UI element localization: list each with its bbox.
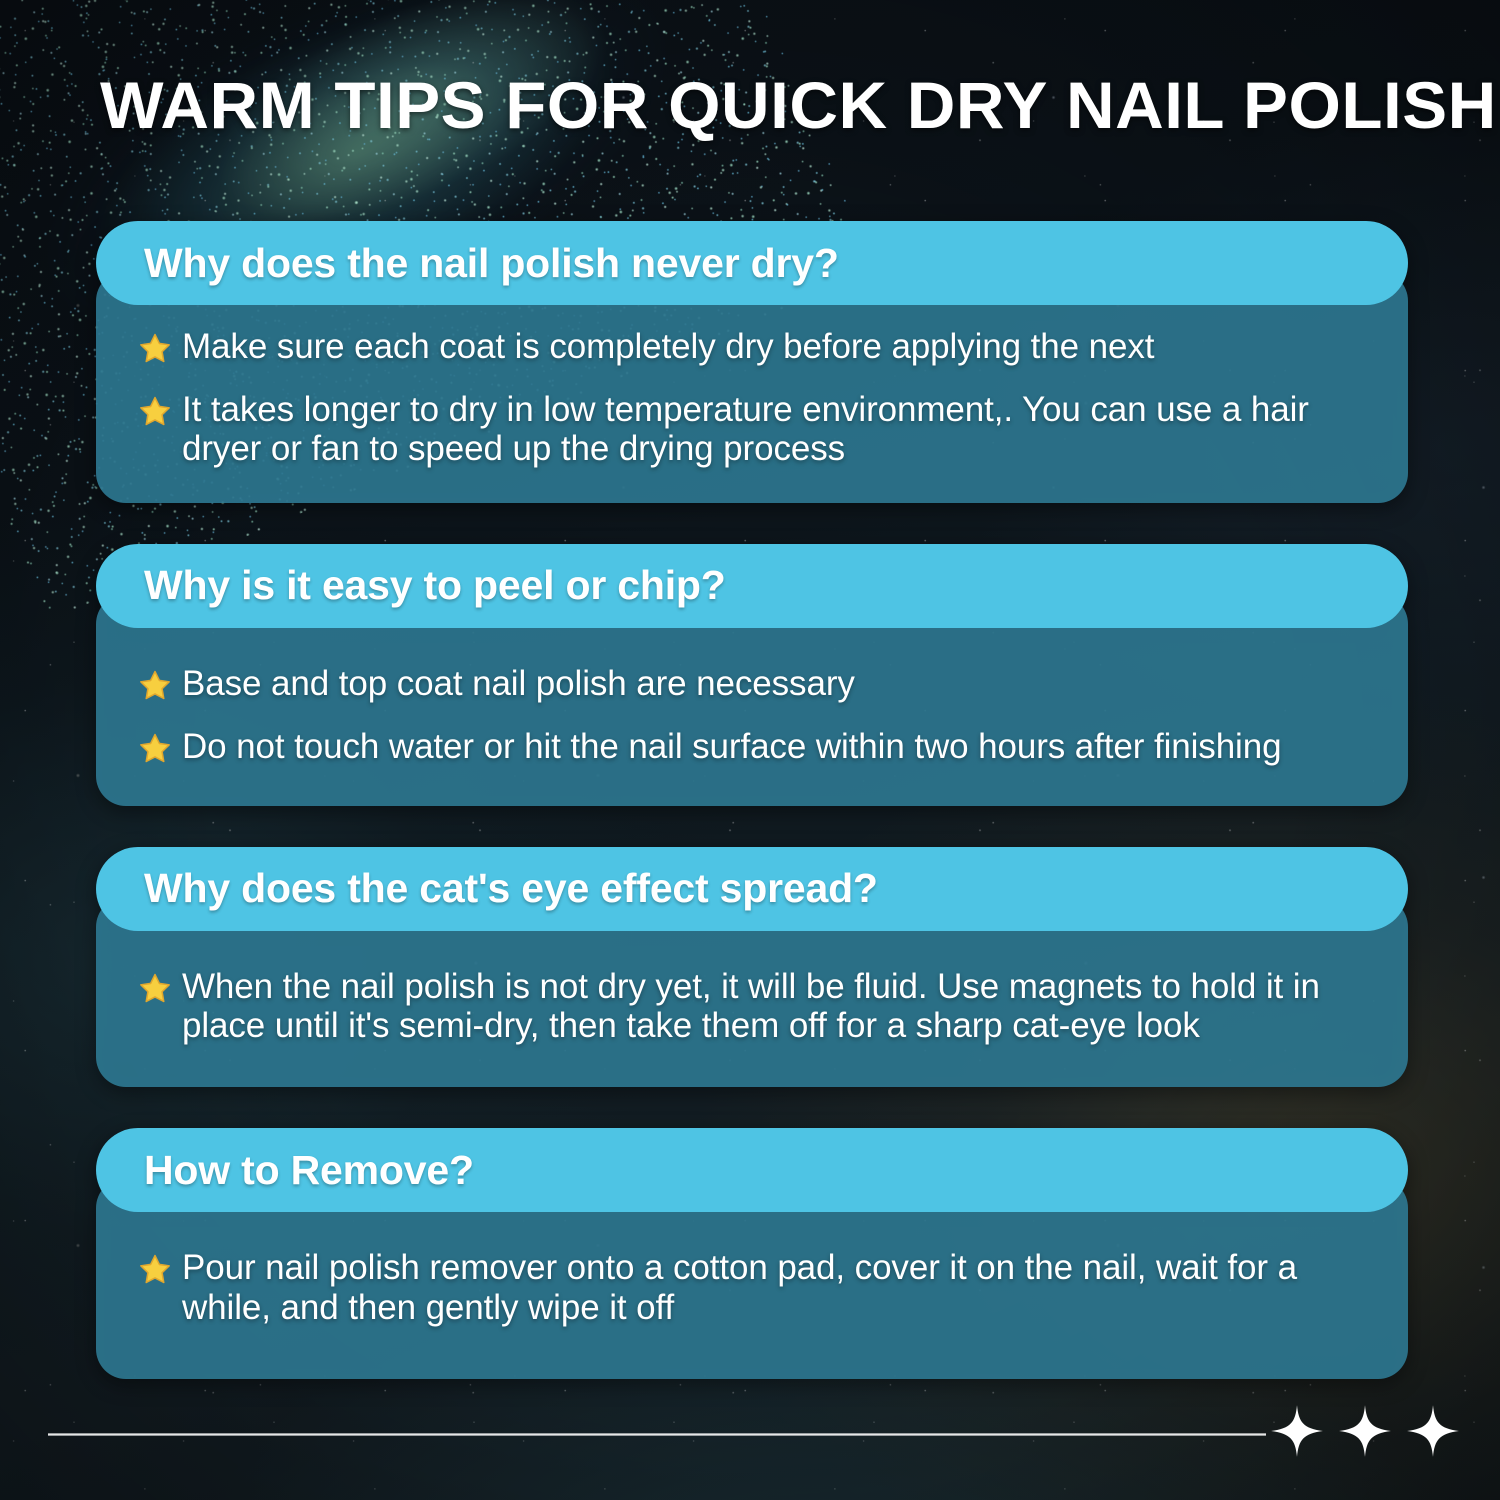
list-item: Make sure each coat is completely dry be… bbox=[138, 327, 1366, 366]
faq-card: How to Remove? Pour nail polish remover … bbox=[96, 1128, 1408, 1378]
star-icon bbox=[138, 972, 172, 1006]
list-item: When the nail polish is not dry yet, it … bbox=[138, 967, 1366, 1045]
list-item-text: Do not touch water or hit the nail surfa… bbox=[182, 727, 1281, 766]
faq-card-heading: How to Remove? bbox=[144, 1147, 474, 1194]
list-item: Pour nail polish remover onto a cotton p… bbox=[138, 1248, 1366, 1326]
faq-card-list: Why does the nail polish never dry? Make… bbox=[96, 221, 1408, 1420]
faq-card-heading: Why does the nail polish never dry? bbox=[144, 240, 839, 287]
four-point-sparkle-icon bbox=[1406, 1404, 1460, 1463]
list-item-text: Base and top coat nail polish are necess… bbox=[182, 664, 855, 703]
infographic-page: WARM TIPS FOR QUICK DRY NAIL POLISH Why … bbox=[0, 0, 1500, 1500]
page-title: WARM TIPS FOR QUICK DRY NAIL POLISH bbox=[100, 72, 1457, 138]
star-icon bbox=[138, 669, 172, 703]
faq-card: Why does the nail polish never dry? Make… bbox=[96, 221, 1408, 503]
four-point-sparkle-icon bbox=[1338, 1404, 1392, 1463]
list-item: It takes longer to dry in low temperatur… bbox=[138, 390, 1366, 468]
list-item: Base and top coat nail polish are necess… bbox=[138, 664, 1366, 703]
list-item-text: It takes longer to dry in low temperatur… bbox=[182, 390, 1366, 468]
star-icon bbox=[138, 332, 172, 366]
list-item-text: Pour nail polish remover onto a cotton p… bbox=[182, 1248, 1366, 1326]
faq-card-heading: Why is it easy to peel or chip? bbox=[144, 562, 726, 609]
faq-card-header[interactable]: Why does the nail polish never dry? bbox=[96, 221, 1408, 305]
faq-card: Why does the cat's eye effect spread? Wh… bbox=[96, 847, 1408, 1087]
faq-card-header[interactable]: Why is it easy to peel or chip? bbox=[96, 544, 1408, 628]
star-icon bbox=[138, 1253, 172, 1287]
faq-card-heading: Why does the cat's eye effect spread? bbox=[144, 865, 878, 912]
list-item-text: When the nail polish is not dry yet, it … bbox=[182, 967, 1366, 1045]
star-icon bbox=[138, 395, 172, 429]
faq-card-header[interactable]: How to Remove? bbox=[96, 1128, 1408, 1212]
star-icon bbox=[138, 732, 172, 766]
faq-card-body: Make sure each coat is completely dry be… bbox=[96, 271, 1408, 503]
list-item-text: Make sure each coat is completely dry be… bbox=[182, 327, 1154, 366]
faq-card: Why is it easy to peel or chip? Base and… bbox=[96, 544, 1408, 806]
four-point-sparkle-icon bbox=[1270, 1404, 1324, 1463]
faq-card-header[interactable]: Why does the cat's eye effect spread? bbox=[96, 847, 1408, 931]
footer-sparkle-group bbox=[1270, 1398, 1460, 1468]
list-item: Do not touch water or hit the nail surfa… bbox=[138, 727, 1366, 766]
footer-divider bbox=[48, 1433, 1266, 1436]
